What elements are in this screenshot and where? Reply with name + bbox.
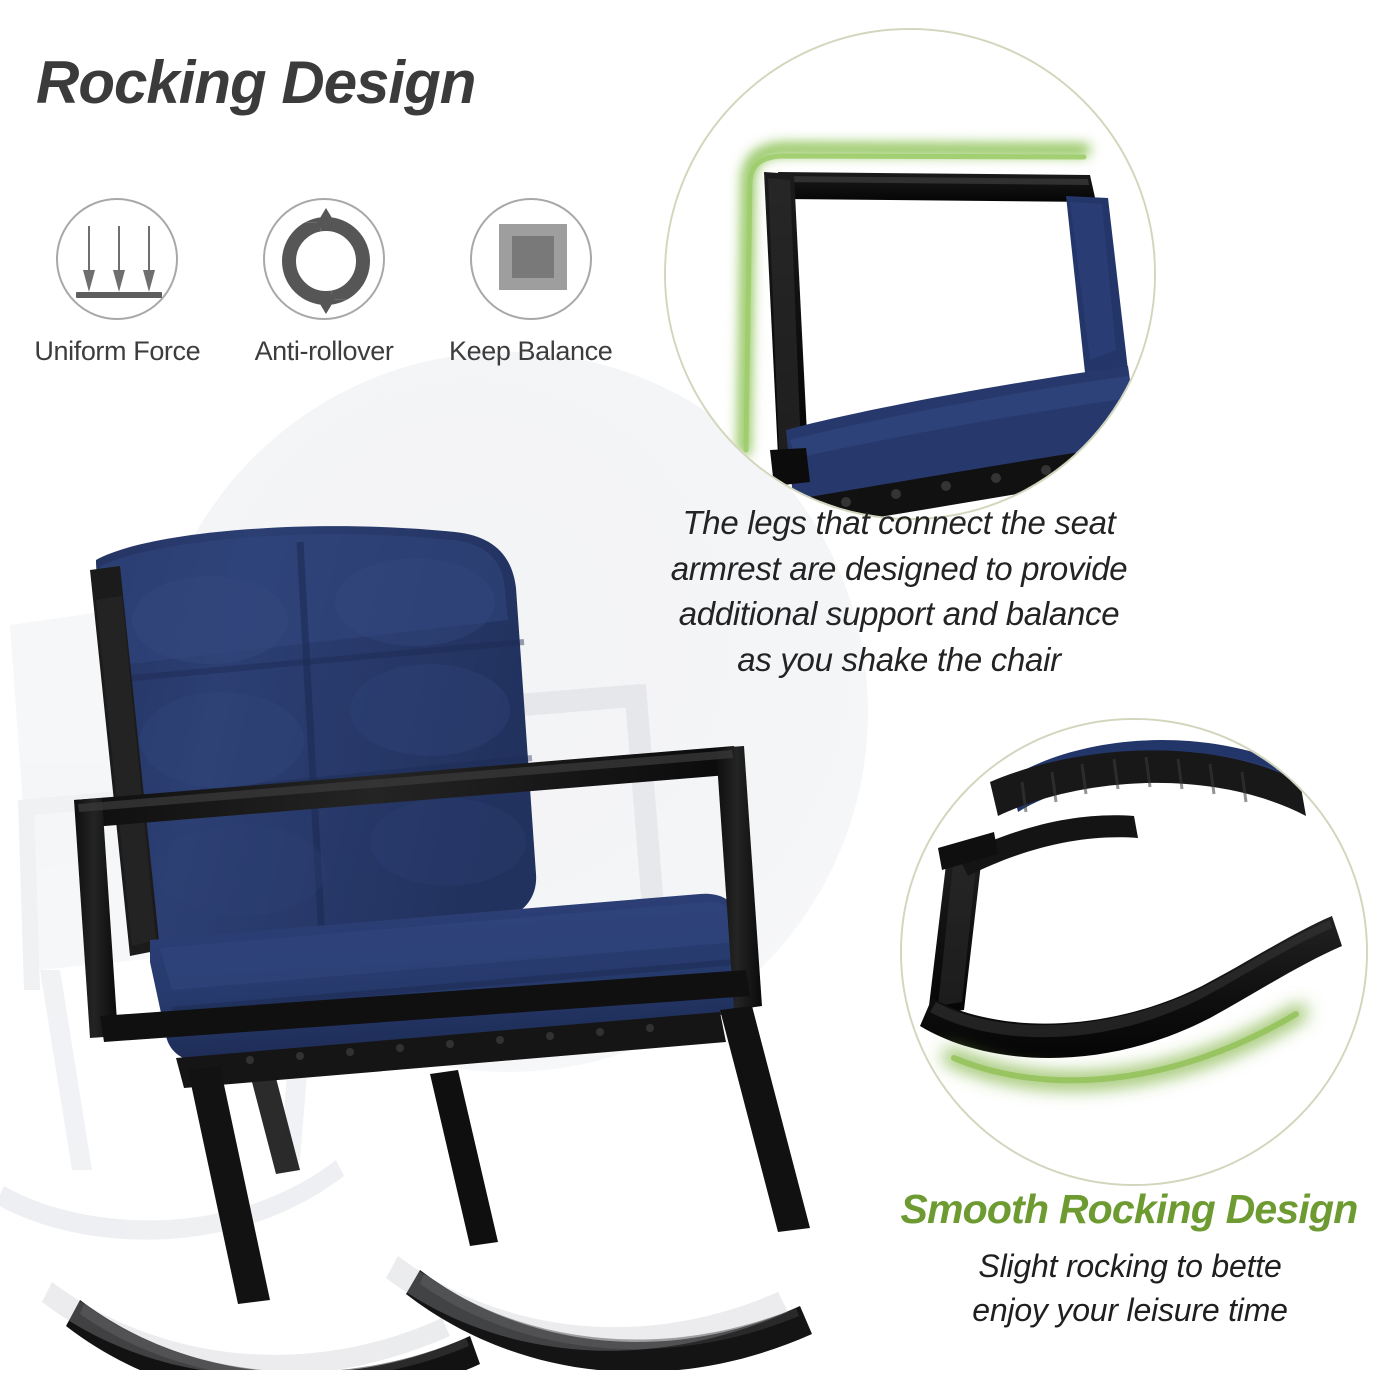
description-line: armrest are designed to provide — [610, 546, 1188, 592]
description-line: additional support and balance — [610, 591, 1188, 637]
feature-uniform-force: Uniform Force — [14, 198, 221, 367]
arrowhead-bottom-icon — [314, 294, 338, 314]
feature-anti-rollover: Anti-rollover — [221, 198, 428, 367]
feature-label: Keep Balance — [449, 336, 612, 367]
smooth-rocking-caption: Slight rocking to bette enjoy your leisu… — [880, 1244, 1380, 1332]
arrowhead-top-icon — [314, 208, 338, 228]
arrow-down-1-icon — [88, 226, 90, 272]
smooth-rocking-headline: Smooth Rocking Design — [862, 1186, 1396, 1233]
armrest-leg-joint-detail — [664, 28, 1156, 520]
outer-square-icon — [499, 224, 567, 290]
feature-keep-balance: Keep Balance — [427, 198, 634, 367]
infographic-canvas: Rocking Design Uniform Force Anti-roll — [0, 0, 1396, 1396]
arrow-down-3-icon — [148, 226, 150, 272]
feature-label: Anti-rollover — [255, 336, 394, 367]
caption-line: enjoy your leisure time — [880, 1288, 1380, 1332]
downward-arrows-on-bar-icon — [56, 198, 178, 320]
arrow-down-2-icon — [118, 226, 120, 272]
feature-list: Uniform Force Anti-rollover Keep Balance — [14, 198, 634, 367]
description-line: The legs that connect the seat — [610, 500, 1188, 546]
inner-square-icon — [512, 236, 554, 278]
rotation-arcs — [265, 200, 383, 318]
page-title: Rocking Design — [36, 48, 475, 117]
curved-rocker-base-detail — [900, 718, 1368, 1186]
description-line: as you shake the chair — [610, 637, 1188, 683]
feature-label: Uniform Force — [34, 336, 200, 367]
nested-squares-icon — [470, 198, 592, 320]
rotation-cycle-arrows-icon — [263, 198, 385, 320]
back-cushion — [96, 526, 536, 970]
description-paragraph: The legs that connect the seat armrest a… — [610, 500, 1188, 682]
caption-line: Slight rocking to bette — [880, 1244, 1380, 1288]
support-bar-icon — [76, 292, 162, 298]
